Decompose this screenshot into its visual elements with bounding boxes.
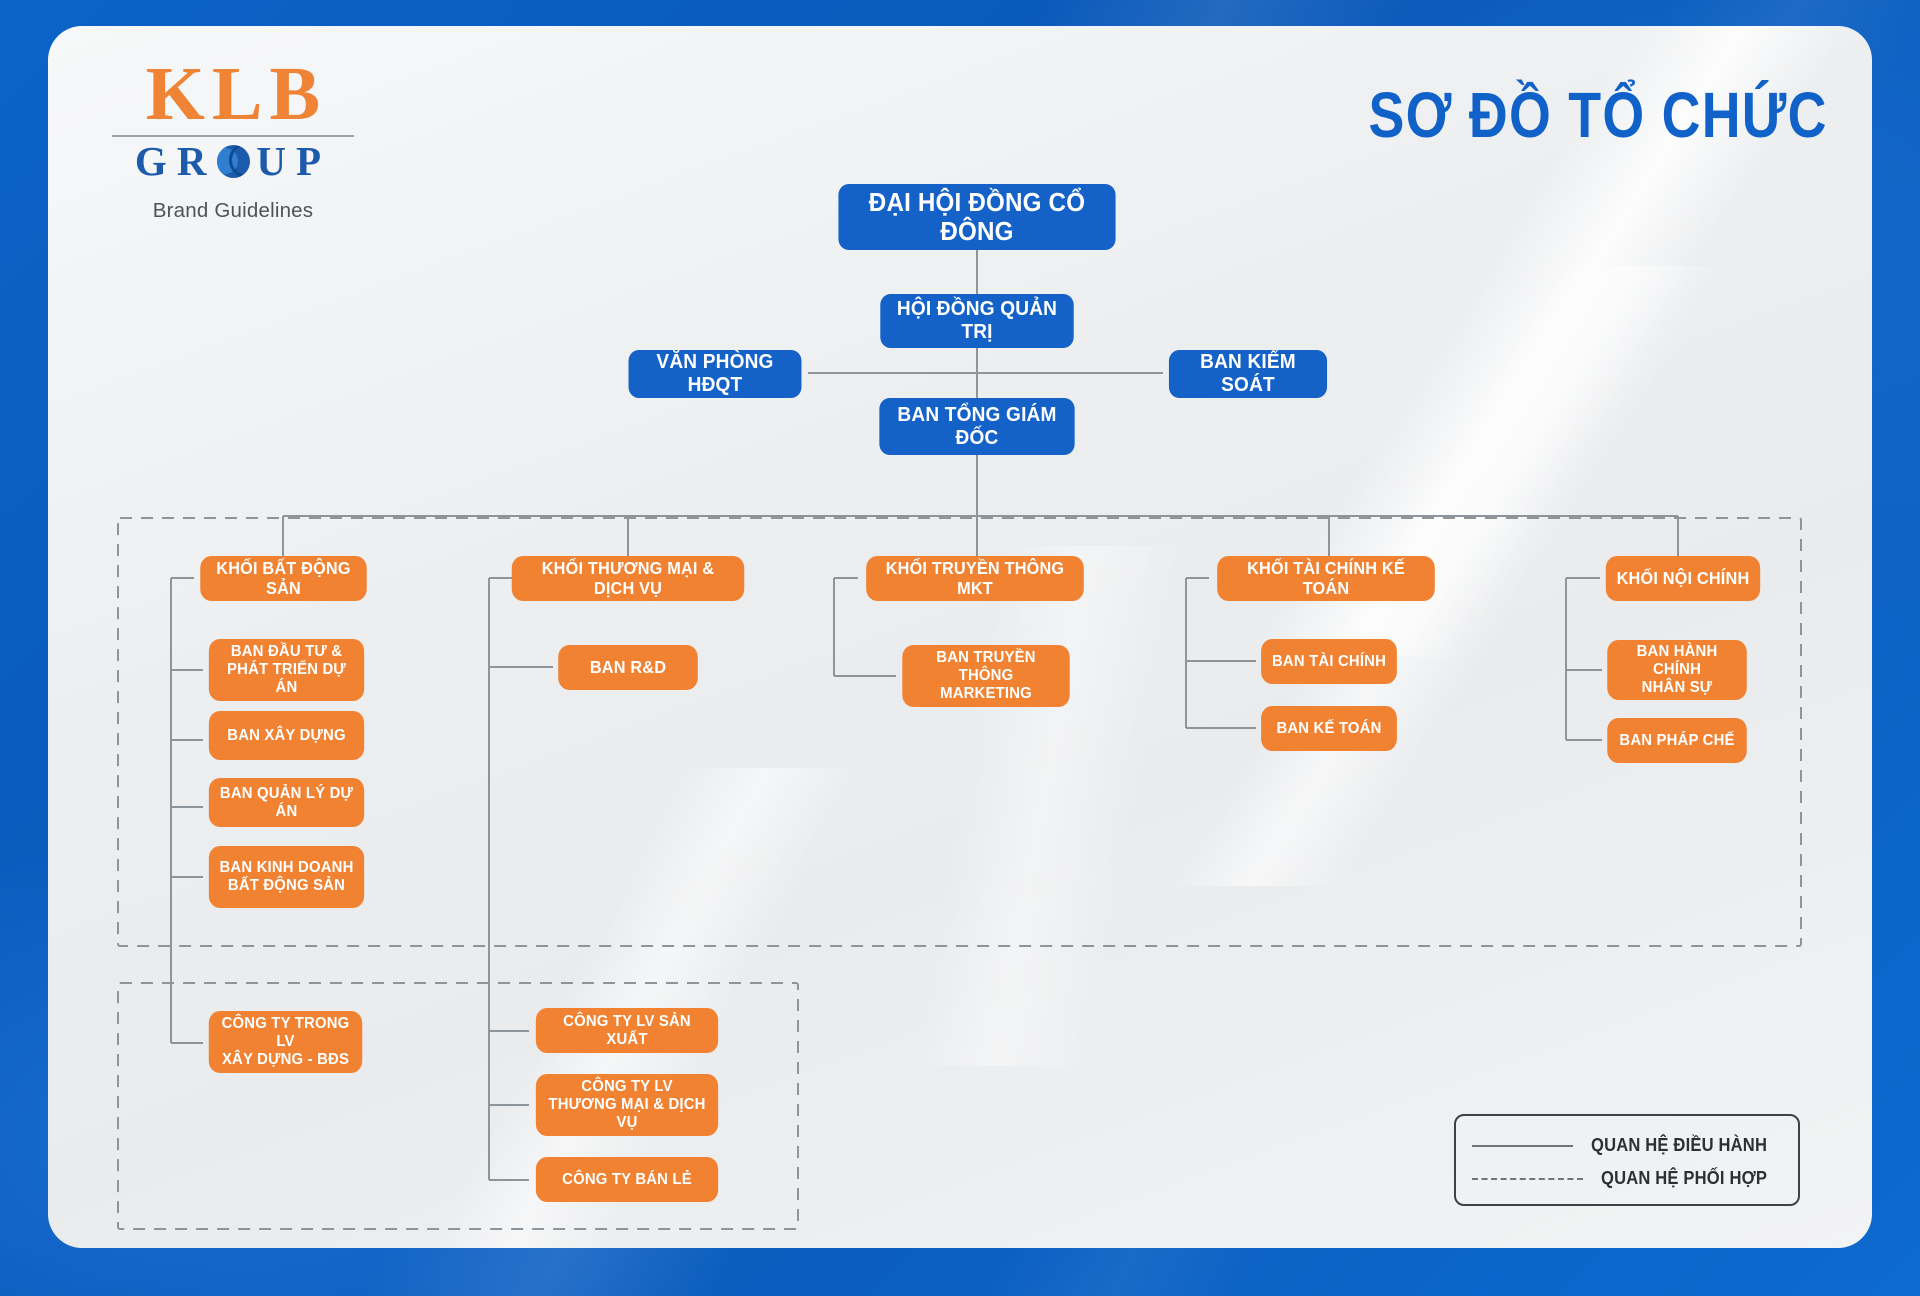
node-ban-kinh-doanh-bat-dong-san[interactable]: BAN KINH DOANH BẤT ĐỘNG SẢN [209, 846, 364, 908]
node-ban-ke-toan[interactable]: BAN KẾ TOÁN [1261, 706, 1397, 751]
solid-line-icon [1472, 1145, 1573, 1147]
legend-item-dieu-hanh: QUAN HỆ ĐIỀU HÀNH [1472, 1129, 1782, 1162]
node-khoi-truyen-thong-mkt[interactable]: KHỐI TRUYỀN THÔNG MKT [866, 556, 1084, 601]
page-title: SƠ ĐỒ TỔ CHỨC [1369, 78, 1828, 152]
node-ban-hanh-chinh-nhan-su[interactable]: BAN HÀNH CHÍNH NHÂN SỰ [1607, 640, 1747, 700]
node-ban-truyen-thong-marketing[interactable]: BAN TRUYỀN THÔNG MARKETING [902, 645, 1069, 707]
node-ban-dau-tu-phat-trien-du-an[interactable]: BAN ĐẦU TƯ & PHÁT TRIỂN DỰ ÁN [209, 639, 364, 701]
poster-background: KLB GR UP Brand Guidelines SƠ ĐỒ TỔ CHỨC [0, 0, 1920, 1296]
node-hoi-dong-quan-tri[interactable]: HỘI ĐỒNG QUẢN TRỊ [880, 294, 1073, 348]
node-van-phong-hdqt[interactable]: VĂN PHÒNG HĐQT [629, 350, 802, 398]
legend-item-phoi-hop: QUAN HỆ PHỐI HỢP [1472, 1162, 1782, 1195]
logo-group-right: UP [256, 141, 331, 182]
node-ban-tai-chinh[interactable]: BAN TÀI CHÍNH [1261, 639, 1397, 684]
node-khoi-bat-dong-san[interactable]: KHỐI BẤT ĐỘNG SẢN [200, 556, 366, 601]
brand-tagline: Brand Guidelines [108, 199, 358, 223]
node-cong-ty-ban-le[interactable]: CÔNG TY BÁN LẺ [536, 1157, 718, 1202]
legend-label-dieu-hanh: QUAN HỆ ĐIỀU HÀNH [1591, 1135, 1767, 1156]
node-ban-phap-che[interactable]: BAN PHÁP CHẾ [1607, 718, 1747, 763]
node-cong-ty-lv-san-xuat[interactable]: CÔNG TY LV SẢN XUẤT [536, 1008, 718, 1053]
dashed-line-icon [1472, 1178, 1583, 1180]
node-khoi-noi-chinh[interactable]: KHỐI NỘI CHÍNH [1606, 556, 1760, 601]
legend: QUAN HỆ ĐIỀU HÀNH QUAN HỆ PHỐI HỢP [1454, 1114, 1800, 1206]
legend-label-phoi-hop: QUAN HỆ PHỐI HỢP [1601, 1168, 1767, 1189]
logo-wordmark-group: GR UP [108, 139, 358, 185]
node-ban-quan-ly-du-an[interactable]: BAN QUẢN LÝ DỰ ÁN [209, 778, 364, 827]
logo-group-left: GR [135, 141, 217, 182]
logo-wordmark-klb: KLB [108, 58, 358, 131]
node-khoi-tai-chinh-ke-toan[interactable]: KHỐI TÀI CHÍNH KẾ TOÁN [1217, 556, 1435, 601]
globe-icon [217, 145, 250, 178]
brand-logo: KLB GR UP Brand Guidelines [108, 58, 358, 223]
node-dai-hoi-dong-co-dong[interactable]: ĐẠI HỘI ĐỒNG CỔ ĐÔNG [838, 184, 1115, 250]
node-ban-xay-dung[interactable]: BAN XÂY DỰNG [209, 711, 364, 760]
node-ban-tong-giam-doc[interactable]: BAN TỔNG GIÁM ĐỐC [879, 398, 1074, 455]
node-cong-ty-lv-thuong-mai-dich-vu[interactable]: CÔNG TY LV THƯƠNG MẠI & DỊCH VỤ [536, 1074, 718, 1136]
node-ban-kiem-soat[interactable]: BAN KIỂM SOÁT [1169, 350, 1327, 398]
node-khoi-thuong-mai-dich-vu[interactable]: KHỐI THƯƠNG MẠI & DỊCH VỤ [512, 556, 745, 601]
node-ban-rnd[interactable]: BAN R&D [558, 645, 698, 690]
node-cong-ty-xay-dung-bds[interactable]: CÔNG TY TRONG LV XÂY DỰNG - BĐS [209, 1011, 362, 1073]
